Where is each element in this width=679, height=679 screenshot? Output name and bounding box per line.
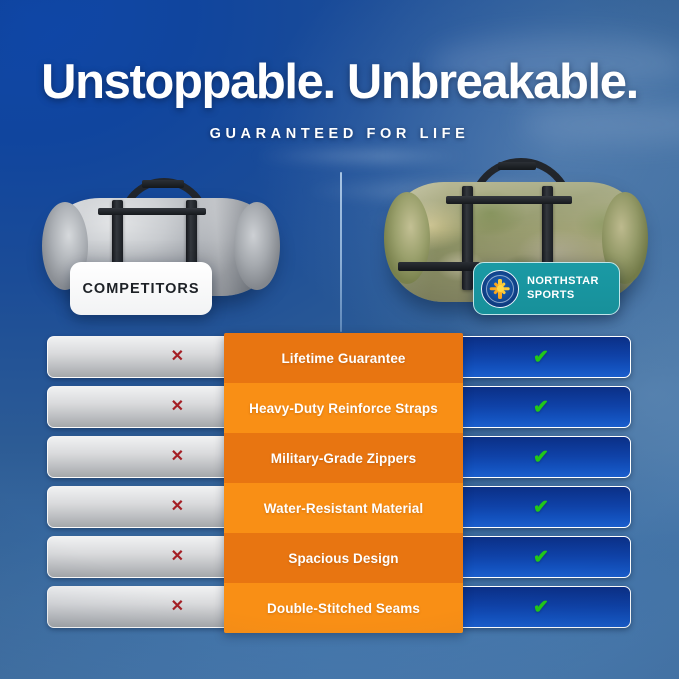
feature-label: Spacious Design (224, 533, 463, 583)
feature-label: Heavy-Duty Reinforce Straps (224, 383, 463, 433)
competitor-cell: ✕ (47, 386, 232, 428)
brand-cell: ✔ (455, 436, 631, 478)
competitor-cell: ✕ (47, 586, 232, 628)
check-icon: ✔ (533, 598, 549, 617)
check-icon: ✔ (533, 398, 549, 417)
competitors-label-card: COMPETITORS (70, 262, 212, 315)
competitor-cell: ✕ (47, 486, 232, 528)
handle-wrap (142, 180, 184, 188)
competitors-label-text: COMPETITORS (82, 281, 199, 297)
promo-infographic: Unstoppable. Unbreakable. GUARANTEED FOR… (0, 0, 679, 679)
brand-name-text: NORTHSTAR SPORTS (527, 275, 599, 302)
competitor-cell: ✕ (47, 536, 232, 578)
handle-wrap (498, 162, 536, 170)
bag-strap-lower (398, 262, 480, 271)
brand-cell: ✔ (455, 486, 631, 528)
check-icon: ✔ (533, 448, 549, 467)
compass-star-icon (481, 270, 519, 308)
brand-cell: ✔ (455, 536, 631, 578)
cross-icon: ✕ (171, 499, 184, 515)
competitor-cell: ✕ (47, 336, 232, 378)
star-core (497, 285, 504, 292)
bag-strap-top (446, 196, 572, 204)
bag-strap-top (98, 208, 206, 215)
bag-end-cap (234, 202, 280, 290)
feature-label: Military-Grade Zippers (224, 433, 463, 483)
check-icon: ✔ (533, 498, 549, 517)
competitor-cell: ✕ (47, 436, 232, 478)
check-icon: ✔ (533, 548, 549, 567)
feature-label: Lifetime Guarantee (224, 333, 463, 383)
cross-icon: ✕ (171, 549, 184, 565)
brand-label-card: NORTHSTAR SPORTS (473, 262, 620, 315)
page-subtitle: GUARANTEED FOR LIFE (0, 126, 679, 142)
cross-icon: ✕ (171, 399, 184, 415)
page-title: Unstoppable. Unbreakable. (0, 58, 679, 107)
brand-cell: ✔ (455, 386, 631, 428)
cross-icon: ✕ (171, 449, 184, 465)
brand-cell: ✔ (455, 336, 631, 378)
feature-label: Double-Stitched Seams (224, 583, 463, 633)
feature-label: Water-Resistant Material (224, 483, 463, 533)
cross-icon: ✕ (171, 599, 184, 615)
feature-list-panel: Lifetime GuaranteeHeavy-Duty Reinforce S… (224, 333, 463, 633)
brand-cell: ✔ (455, 586, 631, 628)
column-divider (340, 172, 342, 332)
cross-icon: ✕ (171, 349, 184, 365)
check-icon: ✔ (533, 348, 549, 367)
